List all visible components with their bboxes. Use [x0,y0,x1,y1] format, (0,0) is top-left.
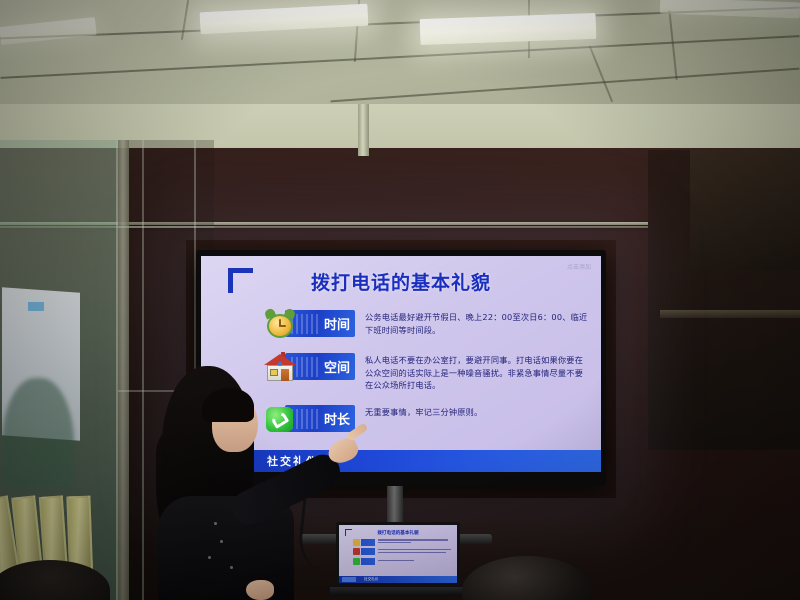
person-silhouette-reflection [2,378,74,488]
board-tag [28,302,44,311]
wall-post [358,104,369,156]
laptop-slide-row [353,548,457,555]
laptop-footer-title: 社交礼仪 [364,577,378,582]
mini-row-text [378,549,457,554]
slide-row: 时间 公务电话最好避开节假日、晚上22：00至次日6：00、临近下班时间等时间段… [263,308,591,340]
mini-row-text [378,539,457,544]
slide-title: 拨打电话的基本礼貌 [201,268,601,295]
ceiling [0,0,800,112]
mini-row-tag [361,558,375,565]
slide-row-text: 私人电话不要在办公室打，要避开同事。打电话如果你要在公众空间的话实际上是一种噪音… [355,351,591,392]
laptop-slide-row [353,558,457,565]
right-shelf [660,310,800,318]
ceiling-light-panel [200,4,369,35]
slide-row-text: 无重要事情，牢记三分钟原则。 [355,403,591,419]
mini-row-tag [361,548,375,555]
ceiling-light-panel [0,17,97,45]
house-icon [263,351,297,383]
mini-row-tag [361,539,375,546]
laptop-slide-row [353,539,457,546]
right-wall-recess [690,150,800,270]
presenter [150,366,360,600]
ceiling-light-panel [660,0,800,18]
phone-icon [263,403,297,435]
slide-row-text: 公务电话最好避开节假日、晚上22：00至次日6：00、临近下班时间等时间段。 [355,308,591,336]
presenter-hair-front [202,388,254,422]
photo-scene: 点击添加 拨打电话的基本礼貌 时间 公务 [0,0,800,600]
ceiling-light-panel [420,13,597,45]
mini-row-text [378,560,457,563]
presenter-resting-hand [246,580,274,600]
alarm-clock-icon [263,308,297,340]
row-icon-area: 时间 [263,308,355,340]
